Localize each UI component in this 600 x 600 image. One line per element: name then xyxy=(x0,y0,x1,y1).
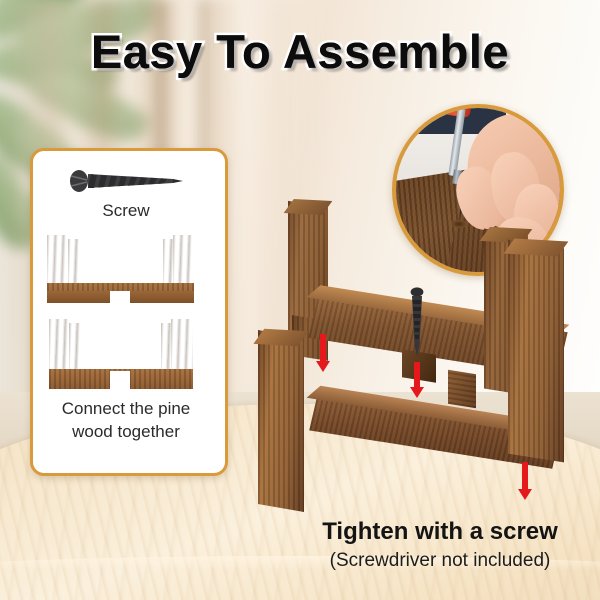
arrow-center-screw xyxy=(410,362,424,398)
bottom-heading: Tighten with a screw xyxy=(280,518,600,546)
screw-label: Screw xyxy=(33,201,219,221)
screw-icon xyxy=(61,167,197,195)
pine-wood-stand-assembly xyxy=(256,186,586,526)
wood-post-top-face xyxy=(504,239,569,257)
card-caption-line-2: wood together xyxy=(33,420,219,443)
arrow-left-post xyxy=(316,334,330,372)
arrow-right-post xyxy=(518,462,532,500)
wood-post-front-left xyxy=(258,330,304,512)
wood-post-right-front xyxy=(508,240,564,463)
card-caption: Connect the pine wood together xyxy=(33,397,219,443)
infographic-stage: Easy To Assemble Easy To Assemble Screw xyxy=(0,0,600,600)
screw-icon-vertical xyxy=(410,286,424,364)
page-title: Easy To Assemble xyxy=(0,24,600,79)
bottom-subheading: (Screwdriver not included) xyxy=(280,550,600,572)
card-caption-line-1: Connect the pine xyxy=(33,397,219,420)
u-frame-piece xyxy=(47,319,205,389)
u-frame-piece xyxy=(47,235,205,305)
wood-notch-tab xyxy=(448,370,476,408)
parts-info-card: Screw Connect the pine wood together xyxy=(30,148,228,476)
